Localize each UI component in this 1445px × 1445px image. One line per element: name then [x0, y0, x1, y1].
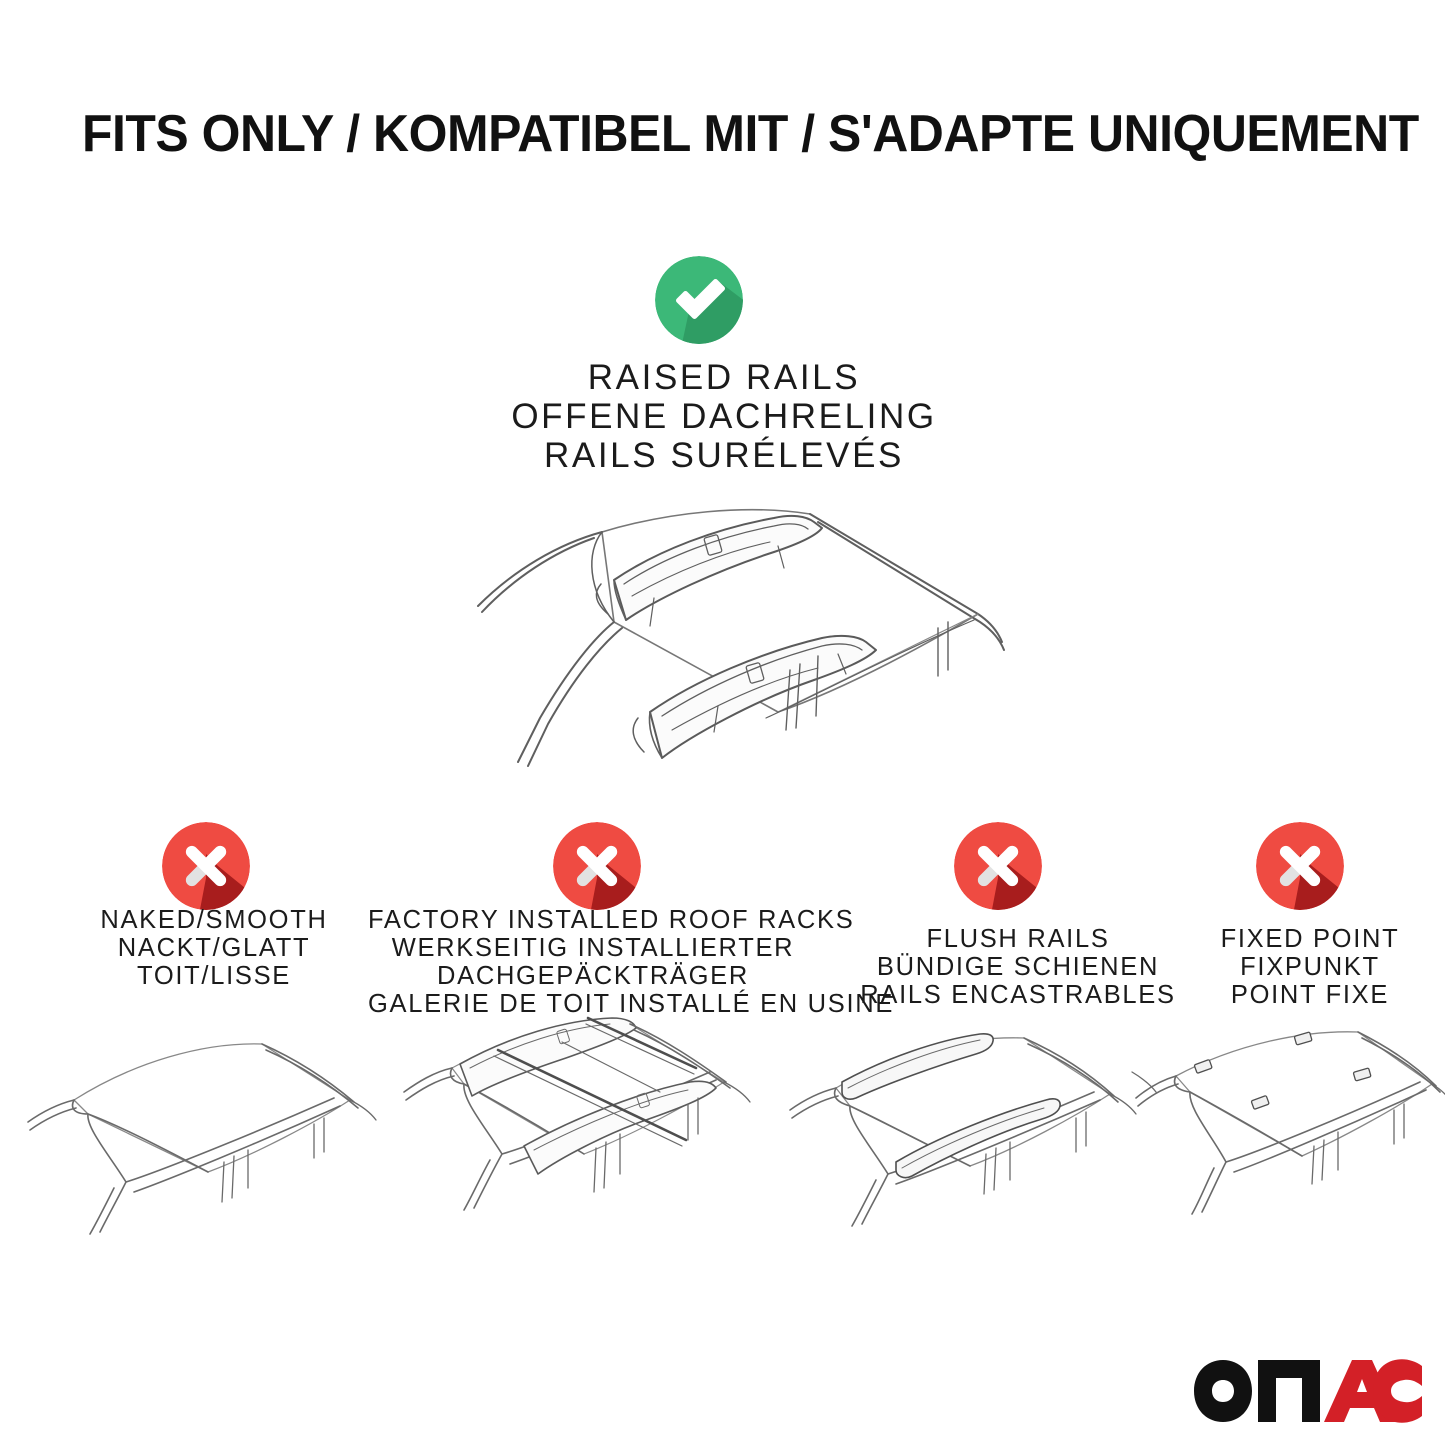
label-line-1: FACTORY INSTALLED ROOF RACKS — [368, 906, 818, 934]
check-circle-icon — [655, 256, 743, 344]
omac-logo-letter-m — [1258, 1360, 1320, 1422]
label-line-1: FLUSH RAILS — [840, 925, 1196, 953]
label-line-1: FIXED POINT — [1160, 925, 1445, 953]
compatible-label-line-3: RAILS SURÉLEVÉS — [422, 436, 1026, 475]
label-line-2: NACKT/GLATT — [22, 934, 406, 962]
omac-logo-letter-c — [1373, 1359, 1422, 1423]
label-line-3: POINT FIXE — [1160, 981, 1445, 1009]
x-circle-icon — [553, 822, 641, 910]
omac-logo-letter-o — [1194, 1360, 1252, 1422]
label-line-3: DACHGEPÄCKTRÄGER — [368, 962, 818, 990]
incompatible-label-flush-rails: FLUSH RAILS BÜNDIGE SCHIENEN RAILS ENCAS… — [840, 925, 1196, 1009]
x-circle-icon — [162, 822, 250, 910]
compatible-label: RAISED RAILS OFFENE DACHRELING RAILS SUR… — [422, 358, 1026, 475]
x-circle-icon — [1256, 822, 1344, 910]
car-roof-naked-illustration — [18, 1022, 388, 1254]
compatible-label-line-2: OFFENE DACHRELING — [422, 397, 1026, 436]
label-line-3: TOIT/LISSE — [22, 962, 406, 990]
car-roof-factory-rack-illustration — [390, 1012, 768, 1254]
page-title: FITS ONLY / KOMPATIBEL MIT / S'ADAPTE UN… — [82, 104, 1320, 164]
compatible-label-line-1: RAISED RAILS — [422, 358, 1026, 397]
label-line-2: WERKSEITIG INSTALLIERTER — [368, 934, 818, 962]
label-line-2: FIXPUNKT — [1160, 953, 1445, 981]
label-line-1: NAKED/SMOOTH — [22, 906, 406, 934]
car-roof-raised-rails-illustration — [418, 492, 1028, 792]
label-line-3: RAILS ENCASTRABLES — [840, 981, 1196, 1009]
omac-logo — [1192, 1358, 1424, 1424]
incompatible-label-naked-smooth: NAKED/SMOOTH NACKT/GLATT TOIT/LISSE — [22, 906, 406, 990]
x-circle-icon — [954, 822, 1042, 910]
car-roof-flush-rails-illustration — [780, 1022, 1158, 1254]
incompatible-label-factory-racks: FACTORY INSTALLED ROOF RACKS WERKSEITIG … — [368, 906, 818, 1018]
car-roof-fixed-point-illustration — [1132, 1022, 1445, 1254]
label-line-2: BÜNDIGE SCHIENEN — [840, 953, 1196, 981]
incompatible-label-fixed-point: FIXED POINT FIXPUNKT POINT FIXE — [1160, 925, 1445, 1009]
